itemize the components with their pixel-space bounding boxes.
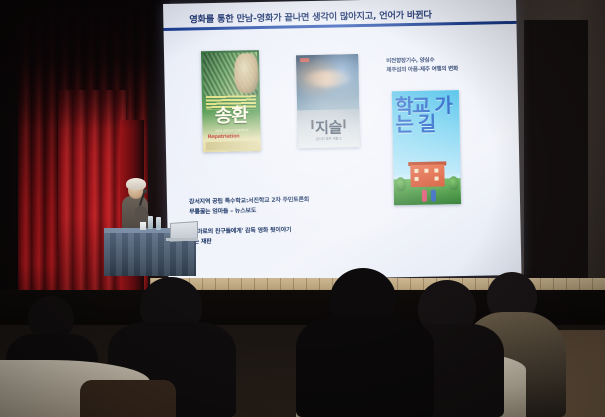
poster-way-to-school: 학교 가는 길 bbox=[392, 90, 461, 205]
poster-songhwan-subtitle: 2003 대한민국 다큐멘터리 bbox=[203, 127, 261, 133]
poster-songhwan-face bbox=[234, 53, 259, 93]
paper-cup bbox=[140, 222, 146, 230]
water-bottle bbox=[148, 216, 153, 229]
wall-dark-inset bbox=[524, 20, 588, 292]
laptop-base bbox=[166, 238, 198, 241]
poster-jiseul-title: 지슬 bbox=[297, 120, 359, 136]
curtain-top-shadow bbox=[0, 0, 170, 130]
poster-school-window bbox=[424, 169, 428, 173]
tree-icon bbox=[396, 177, 406, 191]
poster-school-window bbox=[434, 169, 438, 173]
poster-jiseul: 지슬 끝나지 않은 세월 2 bbox=[296, 54, 360, 148]
poster-school-window bbox=[415, 177, 419, 181]
poster-school-title: 학교 가는 길 bbox=[395, 96, 457, 134]
poster-songhwan-english-title: Repatriation bbox=[208, 133, 240, 140]
audience-body bbox=[296, 316, 434, 417]
poster-school-child bbox=[431, 190, 436, 202]
presenter-hair bbox=[126, 178, 146, 190]
poster-school-window bbox=[435, 177, 439, 181]
poster-songhwan: 송환 2003 대한민국 다큐멘터리 Repatriation bbox=[201, 50, 261, 152]
lecture-hall-photo: 영화를 통한 만남-영화가 끝나면 생각이 많아지고, 언어가 바뀐다 송환 2… bbox=[0, 0, 605, 417]
poster-songhwan-title: 송환 bbox=[202, 106, 260, 126]
slide-text-right: 비전향장기수, 양심수 제주섬의 아픔-제주 여행의 변화 bbox=[386, 55, 516, 75]
water-bottle bbox=[156, 217, 161, 230]
poster-school-window bbox=[414, 169, 418, 173]
poster-school-child bbox=[422, 190, 427, 202]
poster-songhwan-credits bbox=[206, 141, 258, 150]
microphone-head-icon bbox=[143, 189, 147, 193]
chair-back bbox=[80, 380, 176, 417]
tree-icon bbox=[449, 176, 459, 190]
projection-screen: 영화를 통한 만남-영화가 끝나면 생각이 많아지고, 언어가 바뀐다 송환 2… bbox=[163, 0, 522, 282]
poster-jiseul-festival-logo bbox=[300, 58, 309, 62]
